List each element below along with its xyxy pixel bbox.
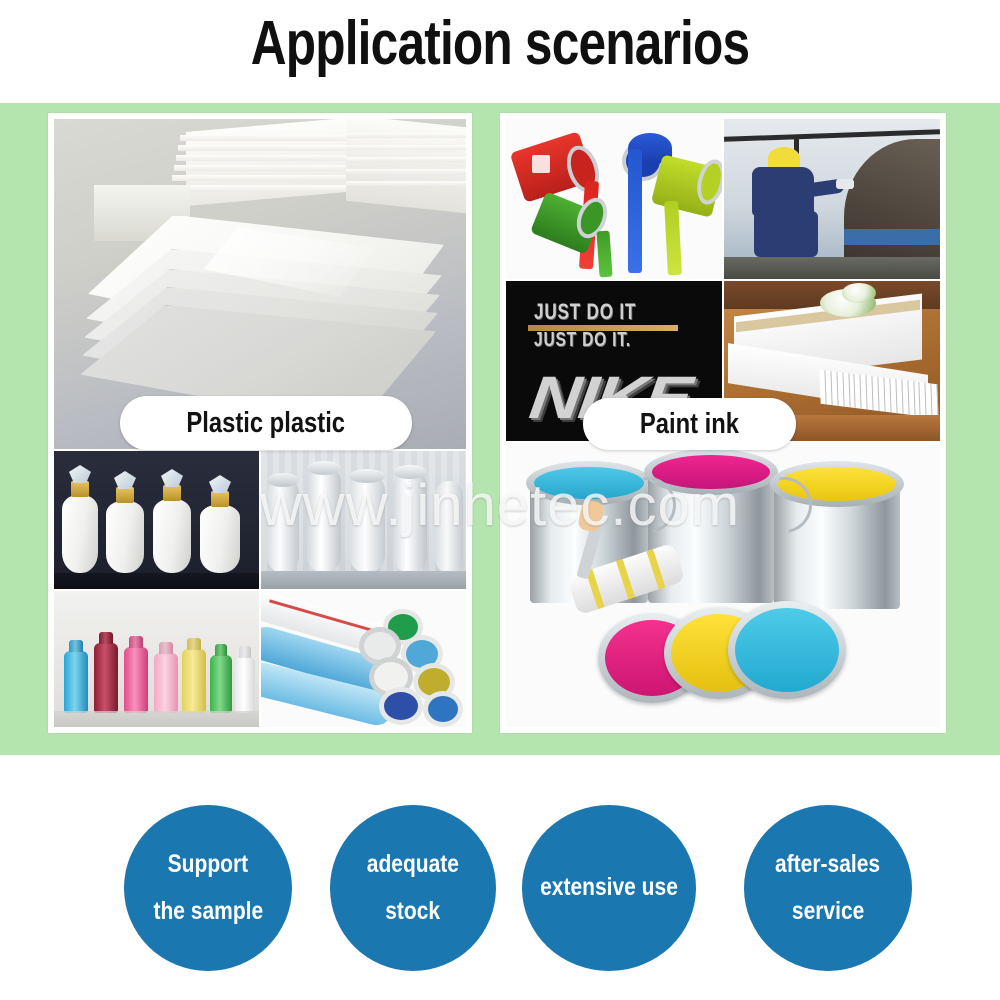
feature-circle-after-sales-service: after-sales service bbox=[744, 805, 912, 971]
cosmetic-bottles-photo bbox=[54, 451, 259, 589]
application-scenarios-banner: Application scenarios bbox=[0, 0, 1000, 1000]
feature-line: after-sales bbox=[775, 841, 880, 889]
feature-circle-support-the-sample: Support the sample bbox=[124, 805, 292, 971]
feature-line: service bbox=[792, 888, 864, 936]
feature-circle-extensive-use: extensive use bbox=[522, 805, 696, 971]
feature-line: extensive use bbox=[540, 864, 678, 912]
feature-line: Support bbox=[168, 841, 248, 889]
feature-line: adequate bbox=[367, 841, 459, 889]
caption-plastic-label: Plastic plastic bbox=[187, 407, 346, 440]
feature-line: the sample bbox=[153, 888, 263, 936]
feature-circle-adequate-stock: adequate stock bbox=[330, 805, 496, 971]
feature-line: stock bbox=[386, 888, 441, 936]
caption-plastic: Plastic plastic bbox=[120, 396, 412, 450]
ship-painting-worker-photo bbox=[724, 119, 940, 279]
pouring-paint-cans-photo bbox=[506, 119, 722, 279]
spray-bottles-photo bbox=[54, 591, 259, 727]
caption-paint-label: Paint ink bbox=[640, 408, 739, 441]
ppr-pipes-photo bbox=[261, 591, 466, 727]
page-title: Application scenarios bbox=[100, 8, 900, 79]
pipe-fittings-photo bbox=[261, 451, 466, 589]
cmyk-paint-cans-photo bbox=[506, 443, 940, 727]
caption-paint: Paint ink bbox=[583, 398, 796, 450]
